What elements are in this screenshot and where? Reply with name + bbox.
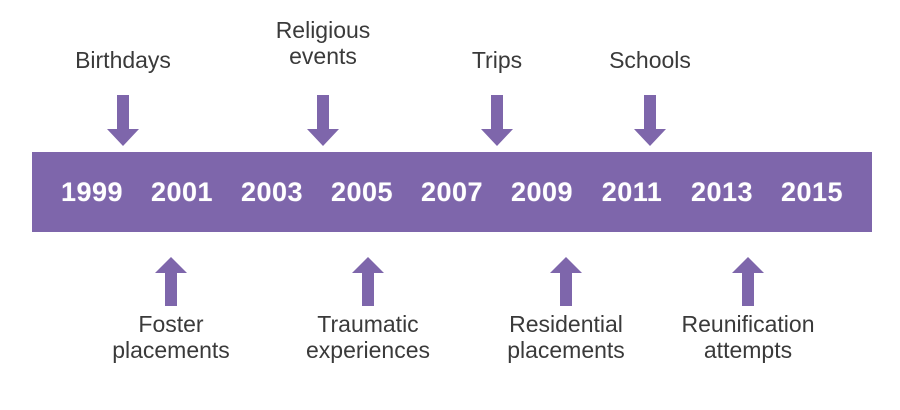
event-label-below-4: Reunification attempts [628,312,868,364]
year-tick: 2011 [587,179,677,206]
year-tick: 1999 [47,179,137,206]
year-tick: 2001 [137,179,227,206]
arrow-down-icon [106,95,140,147]
event-label-above-3: Trips [417,48,577,74]
arrow-down-icon [480,95,514,147]
timeline-diagram: Birthdays Religious events Trips Schools… [0,0,900,410]
arrow-up-icon [731,257,765,307]
arrow-down-icon [306,95,340,147]
arrow-up-icon [154,257,188,307]
year-tick: 2007 [407,179,497,206]
year-tick: 2003 [227,179,317,206]
timeline-year-row: 1999 2001 2003 2005 2007 2009 2011 2013 … [32,152,872,232]
event-label-below-1: Foster placements [66,312,276,364]
year-tick: 2009 [497,179,587,206]
year-tick: 2015 [767,179,857,206]
event-label-above-4: Schools [560,48,740,74]
event-label-below-2: Traumatic experiences [258,312,478,364]
year-tick: 2013 [677,179,767,206]
event-label-above-2: Religious events [223,18,423,70]
arrow-up-icon [549,257,583,307]
arrow-down-icon [633,95,667,147]
event-label-above-1: Birthdays [33,48,213,74]
arrow-up-icon [351,257,385,307]
year-tick: 2005 [317,179,407,206]
